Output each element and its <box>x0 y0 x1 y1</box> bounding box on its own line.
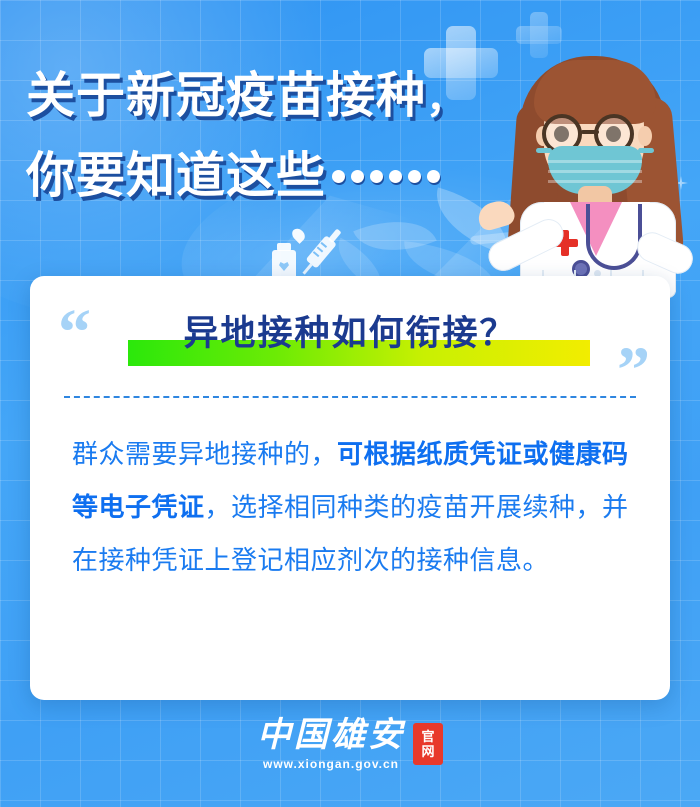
quote-close-icon: ” <box>617 338 650 404</box>
title-line-2-text: 你要知道这些 <box>26 149 326 203</box>
content-card: “ ” 异地接种如何衔接？ 群众需要异地接种的，可根据纸质凭证或健康码等电子凭证… <box>30 276 670 700</box>
title-line-2: 你要知道这些 <box>26 133 496 210</box>
headline-row: 异地接种如何衔接？ <box>100 306 600 372</box>
title-comma: ， <box>426 77 467 121</box>
title-line-1: 关于新冠疫苗接种， <box>26 62 496 133</box>
title-line-1-text: 关于新冠疫苗接种 <box>26 69 426 123</box>
doctor-hair-front <box>534 60 656 124</box>
footer: 中国雄安 www.xiongan.gov.cn 官 网 <box>0 716 700 796</box>
card-headline: 异地接种如何衔接？ <box>100 306 600 362</box>
dashed-divider <box>64 396 636 398</box>
mask-strap-right <box>638 148 654 153</box>
card-body-text: 群众需要异地接种的，可根据纸质凭证或健康码等电子凭证，选择相同种类的疫苗开展续种… <box>72 428 632 587</box>
official-site-seal: 官 网 <box>413 723 443 765</box>
logo-url: www.xiongan.gov.cn <box>257 757 405 771</box>
poster-title: 关于新冠疫苗接种， 你要知道这些 <box>26 62 496 210</box>
seal-char-2: 网 <box>421 744 434 759</box>
body-segment-plain-1: 群众需要异地接种的， <box>72 439 337 469</box>
seal-char-1: 官 <box>421 729 434 744</box>
female-doctor-illustration <box>486 34 700 296</box>
quote-open-icon: “ <box>58 300 91 366</box>
stethoscope-icon <box>586 204 642 270</box>
logo-text: 中国雄安 <box>257 716 405 756</box>
title-ellipsis <box>332 133 446 201</box>
site-logo[interactable]: 中国雄安 www.xiongan.gov.cn 官 网 <box>257 716 443 771</box>
doctor-ear-right <box>638 126 652 146</box>
glasses-bridge <box>581 130 599 134</box>
